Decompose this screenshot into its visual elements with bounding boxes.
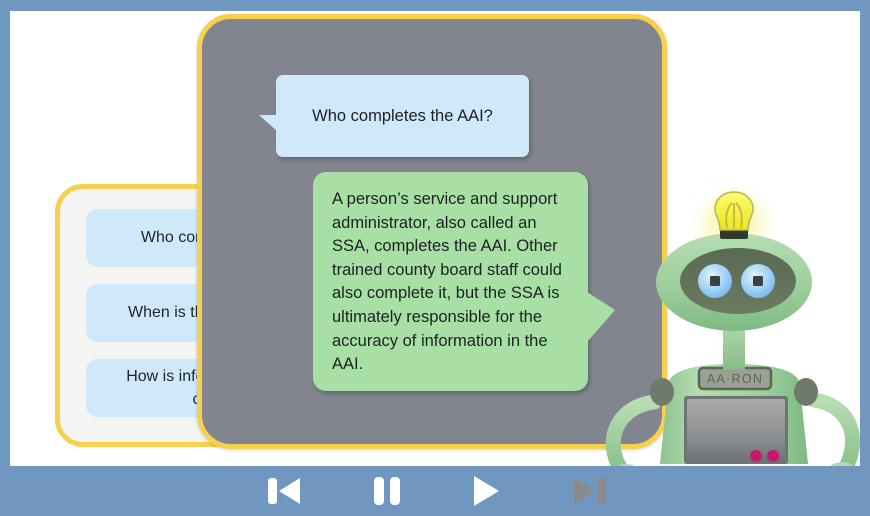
play-button-label: Play [472,508,473,509]
pause-button-label: Pause [372,508,373,509]
play-button[interactable]: Play [472,474,500,508]
question-bubble: Who completes the AAI? [276,75,529,157]
previous-button-label: Previous [266,508,267,509]
skip-forward-icon [572,474,608,508]
pause-button[interactable]: Pause [372,474,402,508]
robot-chest-button-right [767,450,779,462]
next-button[interactable]: Next [572,474,608,508]
answer-bubble: A person’s service and support administr… [313,172,588,391]
question-bubble-tail [259,115,277,131]
robot-left-arm [613,402,654,466]
skip-back-icon [266,474,302,508]
previous-button[interactable]: Previous [266,474,302,508]
question-bubble-text: Who completes the AAI? [276,75,529,157]
robot-right-pupil [753,276,763,286]
player-control-bar: Previous Pause Play Next [0,466,870,516]
robot-badge-label: AA·RON [707,372,763,386]
aa-ron-robot: AA·RON [596,186,870,466]
play-icon [472,474,500,508]
next-button-label: Next [572,508,573,509]
robot-illustration: AA·RON [596,186,870,466]
robot-left-pupil [710,276,720,286]
robot-visor [680,248,796,314]
robot-right-shoulder [794,378,818,406]
robot-chest-button-left [750,450,762,462]
pause-icon [372,474,402,508]
answer-bubble-text: A person’s service and support administr… [313,172,588,391]
robot-right-arm [814,400,853,466]
slide-stage: Who completes the AAI? When is the AAI c… [0,0,870,516]
robot-left-shoulder [650,378,674,406]
